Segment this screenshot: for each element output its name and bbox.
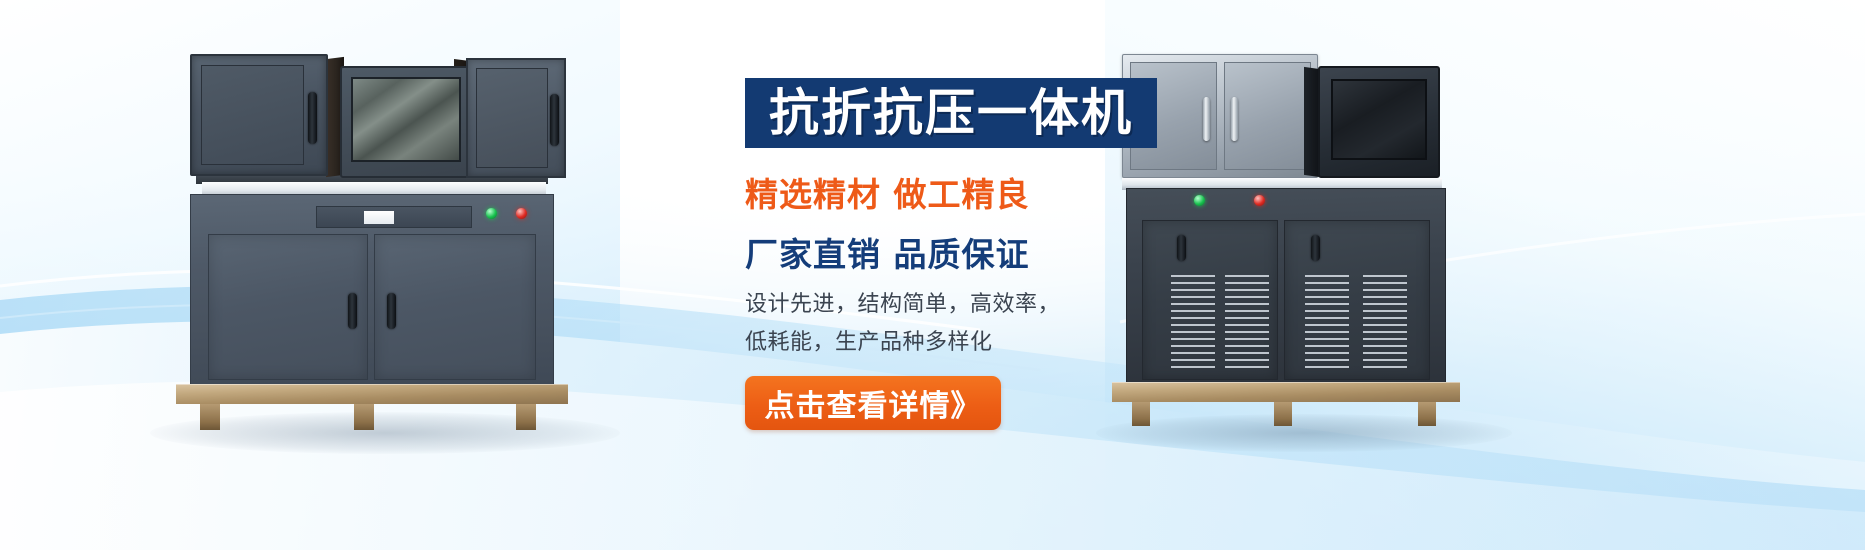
left-wooden-pallet [176, 384, 568, 404]
monitor-screen [1331, 79, 1427, 160]
description-text: 设计先进，结构简单，高效率， 低耗能，生产品种多样化 [745, 286, 1265, 362]
pallet-foot [516, 404, 536, 430]
left-lower-door-b [374, 234, 536, 380]
view-details-label: 点击查看详情》 [765, 381, 982, 425]
ventilation-louvers [1363, 275, 1407, 371]
ventilation-louvers [1305, 275, 1349, 371]
headline-banner-bar: 抗折抗压一体机 [745, 78, 1157, 148]
pallet-foot [1418, 402, 1436, 426]
perforated-door-panel [476, 68, 548, 168]
left-cabinet-right [466, 58, 566, 178]
page-title: 抗折抗压一体机 [769, 88, 1133, 138]
perforated-door-panel [201, 65, 304, 165]
monitor-screen [351, 77, 461, 162]
description-line-2: 低耗能，生产品种多样化 [745, 324, 1265, 362]
door-handle-icon [387, 293, 396, 329]
right-lower-door-b [1284, 220, 1430, 380]
right-monitor [1318, 66, 1440, 178]
promo-text-block: 抗折抗压一体机 精选精材 做工精良 厂家直销 品质保证 设计先进，结构简单，高效… [745, 78, 1265, 430]
left-lower-door-a [208, 234, 368, 380]
subtitle-blue: 厂家直销 品质保证 [745, 228, 1265, 276]
pallet-foot [354, 404, 374, 430]
left-product-image [168, 48, 580, 436]
pallet-foot [1274, 402, 1292, 426]
promo-banner: 抗折抗压一体机 精选精材 做工精良 厂家直销 品质保证 设计先进，结构简单，高效… [0, 0, 1865, 550]
door-handle-icon [348, 293, 357, 329]
description-line-1: 设计先进，结构简单，高效率， [745, 286, 1265, 324]
left-monitor [340, 66, 472, 178]
door-handle-icon [308, 92, 317, 144]
left-control-panel [316, 206, 472, 228]
left-cabinet-left [190, 54, 328, 176]
view-details-button[interactable]: 点击查看详情》 [745, 376, 1001, 430]
power-indicator-green [486, 208, 497, 219]
pallet-foot [200, 404, 220, 430]
left-panel-label [364, 211, 394, 224]
door-handle-icon [1311, 235, 1320, 261]
stop-indicator-red [516, 208, 527, 219]
subtitle-orange: 精选精材 做工精良 [745, 168, 1265, 216]
door-handle-icon [550, 94, 559, 146]
